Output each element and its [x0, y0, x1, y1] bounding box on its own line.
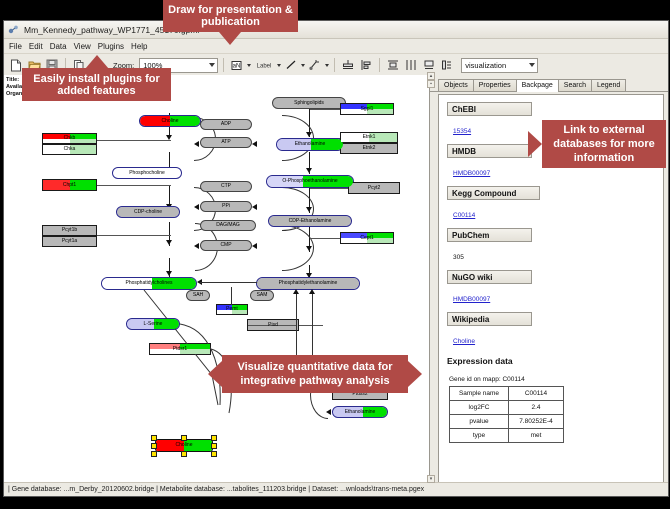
tab-backpage[interactable]: Backpage: [516, 79, 559, 92]
node-label: Phosphatidylcholines: [126, 281, 173, 286]
table-cell-value: 2.4: [509, 401, 564, 415]
node-ctp[interactable]: CTP: [200, 181, 252, 192]
db-label-pubchem: PubChem: [447, 228, 532, 242]
node-label: Sgpl1: [361, 107, 374, 112]
node-pcyt1a[interactable]: Pcyt1a: [42, 236, 97, 247]
callout-links-pointer: [528, 131, 542, 157]
node-label: CTP: [221, 184, 231, 189]
node-label: Pcyt2: [368, 186, 381, 191]
node-cept1[interactable]: Cept1: [340, 232, 394, 244]
sidebar-scroll-handle[interactable]: ▪: [427, 80, 435, 88]
node-label: ATP: [221, 140, 230, 145]
table-row: Sample name C00114: [450, 387, 564, 401]
node-label: Choline: [176, 443, 193, 448]
stack-icon[interactable]: [421, 57, 437, 73]
edge-line-dashed: [200, 282, 258, 283]
chevron-down-icon: [209, 63, 215, 67]
arrowhead-icon: [194, 204, 199, 210]
node-dag-mag[interactable]: DAG/MAG: [200, 220, 256, 231]
sidebar-scroll-down[interactable]: ▾: [427, 475, 435, 483]
expression-table: Sample name C00114 log2FC 2.4 pvalue 7.8…: [449, 386, 564, 443]
pathvisio-icon: [8, 24, 19, 35]
node-chkb[interactable]: Chkb: [42, 133, 97, 144]
node-cmp[interactable]: CMP: [200, 240, 252, 251]
label-dropdown[interactable]: [277, 64, 281, 67]
node-label: Chpt1: [63, 183, 76, 188]
node-pcyt1b[interactable]: Pcyt1b: [42, 225, 97, 236]
node-label: SAM: [257, 293, 268, 298]
selection-handle[interactable]: [211, 443, 217, 449]
selection-handle[interactable]: [151, 435, 157, 441]
db-value-pubchem: 305: [453, 254, 464, 261]
node-l-serine-left[interactable]: L-Serine: [126, 318, 180, 330]
node-sphingolipids[interactable]: Sphingolipids: [272, 97, 346, 109]
gene-connector: [97, 140, 171, 141]
table-cell-value: C00114: [509, 387, 564, 401]
node-cdp-choline[interactable]: CDP-choline: [116, 206, 180, 218]
node-ethanolamine[interactable]: Ethanolamine: [276, 138, 344, 151]
gene-connector: [310, 188, 348, 189]
selection-handle[interactable]: [151, 443, 157, 449]
table-cell-key: Sample name: [450, 387, 509, 401]
node-label: Pemt: [226, 307, 238, 312]
table-cell-value: 7.80252E-4: [509, 415, 564, 429]
gene-connector: [310, 109, 340, 110]
menu-file[interactable]: File: [9, 42, 22, 51]
chevron-down-icon: [529, 63, 535, 67]
node-label: PPi: [222, 204, 230, 209]
node-label: O-Phosphoethanolamine: [282, 179, 337, 184]
node-label: Pcyt1a: [62, 239, 77, 244]
node-label: Chkb: [64, 136, 76, 141]
node-sam[interactable]: SAM: [250, 290, 274, 301]
node-phosphatidylethanolamine[interactable]: Phosphatidylethanolamine: [256, 277, 360, 290]
node-label: Phosphocholine: [129, 171, 165, 176]
node-label: CDP-choline: [134, 210, 162, 215]
db-label-nugowiki: NuGO wiki: [447, 270, 532, 284]
node-label: Pisd: [268, 323, 278, 328]
menu-data[interactable]: Data: [50, 42, 67, 51]
node-label: Phosphatidylethanolamine: [279, 281, 338, 286]
tab-search[interactable]: Search: [558, 79, 592, 91]
table-row: type met: [450, 429, 564, 443]
table-cell-key: log2FC: [450, 401, 509, 415]
expression-data-heading: Expression data: [447, 356, 655, 366]
node-chpt1[interactable]: Chpt1: [42, 179, 97, 191]
arrowhead-icon: [194, 141, 199, 147]
toolbar-separator: [223, 58, 224, 72]
node-sgpl1[interactable]: Sgpl1: [340, 103, 394, 115]
node-ethanolamine-bottom[interactable]: Ethanolamine: [332, 406, 388, 418]
visualization-combo[interactable]: visualization: [461, 58, 538, 73]
canvas-info-organism: Organ: [6, 91, 22, 98]
callout-visualize-pointer-left: [208, 361, 222, 387]
toolbar-separator: [379, 58, 380, 72]
arrowhead-icon: [252, 141, 257, 147]
node-choline-top[interactable]: Choline: [139, 115, 201, 127]
db-link-wikipedia[interactable]: Choline: [453, 338, 475, 345]
datanode-dropdown[interactable]: [247, 64, 251, 67]
selection-handle[interactable]: [181, 451, 187, 457]
canvas-info-title: Title:: [6, 77, 19, 84]
distribute-horizontal-icon[interactable]: [403, 57, 419, 73]
arrowhead-icon: [166, 240, 172, 245]
arrowhead-icon: [309, 289, 315, 294]
arrowhead-icon: [326, 409, 331, 415]
node-label: ADP: [221, 122, 231, 127]
distribute-vertical-icon[interactable]: [385, 57, 401, 73]
edge-line: [231, 287, 232, 305]
callout-plugins-text: Easily install plugins for added feature…: [22, 73, 171, 97]
menu-bar[interactable]: File Edit Data View Plugins Help: [4, 39, 668, 54]
node-label: Ethanolamine: [295, 142, 326, 147]
callout-visualize-text: Visualize quantitative data for integrat…: [222, 360, 408, 388]
callout-draw-text: Draw for presentation & publication: [163, 4, 298, 28]
node-adp[interactable]: ADP: [200, 119, 252, 130]
tab-objects[interactable]: Objects: [438, 79, 474, 91]
status-text: | Gene database: ...m_Derby_20120602.bri…: [4, 486, 424, 493]
selection-handle[interactable]: [211, 451, 217, 457]
selection-handle[interactable]: [151, 451, 157, 457]
table-cell-key: type: [450, 429, 509, 443]
selection-handle[interactable]: [211, 435, 217, 441]
selection-handle[interactable]: [181, 435, 187, 441]
db-link-kegg[interactable]: C00114: [453, 212, 475, 219]
title-bar: Mm_Kennedy_pathway_WP1771_45176.gpml: [4, 21, 668, 39]
menu-edit[interactable]: Edit: [29, 42, 43, 51]
db-link-chebi[interactable]: 15354: [453, 128, 471, 135]
line-dropdown[interactable]: [301, 64, 305, 67]
callout-draw: Draw for presentation & publication: [163, 0, 298, 32]
status-bar: | Gene database: ...m_Derby_20120602.bri…: [4, 482, 668, 496]
label-icon[interactable]: Label: [253, 57, 275, 73]
table-cell-key: pvalue: [450, 415, 509, 429]
menu-view[interactable]: View: [74, 42, 91, 51]
svg-text:Label: Label: [257, 64, 272, 70]
callout-draw-pointer: [219, 32, 241, 45]
node-ptdsr1[interactable]: Ptdsr1: [149, 343, 211, 355]
table-row: pvalue 7.80252E-4: [450, 415, 564, 429]
tab-legend[interactable]: Legend: [591, 79, 626, 91]
node-pemt[interactable]: Pemt: [216, 304, 248, 315]
node-etnk2[interactable]: Etnk2: [340, 143, 398, 154]
callout-plugins-pointer: [85, 55, 109, 69]
node-label: DAG/MAG: [216, 223, 240, 228]
node-label: CDP-Ethanolamine: [289, 219, 332, 224]
toolbar-separator: [334, 58, 335, 72]
node-label: L-Serine: [144, 322, 163, 327]
table-cell-value: met: [509, 429, 564, 443]
pathway-editor-pane: Title: Availa Organ: [4, 75, 430, 496]
node-label: Ptdsr1: [173, 347, 187, 352]
datanode-icon[interactable]: aN: [229, 57, 245, 73]
pathway-canvas[interactable]: Title: Availa Organ: [4, 75, 429, 483]
node-label: Pcyt1b: [62, 228, 77, 233]
node-atp[interactable]: ATP: [200, 137, 252, 148]
anchor-dropdown[interactable]: [325, 64, 329, 67]
arrowhead-icon: [166, 271, 172, 276]
db-link-hmdb[interactable]: HMDB00097: [453, 170, 490, 177]
db-label-chebi: ChEBI: [447, 102, 532, 116]
callout-visualize-pointer-right: [408, 361, 422, 387]
gene-connector: [97, 185, 171, 186]
node-label: CMP: [220, 243, 231, 248]
callout-plugins: Easily install plugins for added feature…: [22, 68, 171, 101]
db-label-wikipedia: Wikipedia: [447, 312, 532, 326]
gene-connector: [97, 235, 171, 236]
node-etnk1[interactable]: Etnk1: [340, 132, 398, 143]
node-label: Cept1: [360, 236, 373, 241]
db-label-kegg: Kegg Compound: [447, 186, 540, 200]
db-link-nugowiki[interactable]: HMDB00097: [453, 296, 490, 303]
arrowhead-icon: [252, 243, 257, 249]
menu-plugins[interactable]: Plugins: [98, 42, 124, 51]
callout-links-text: Link to external databases for more info…: [542, 123, 666, 165]
node-ppi[interactable]: PPi: [200, 201, 252, 212]
sidebar-scroll-up[interactable]: ▴: [427, 72, 435, 80]
screenshot-root: Mm_Kennedy_pathway_WP1771_45176.gpml Fil…: [0, 0, 670, 509]
node-label: Etnk2: [363, 146, 376, 151]
align-center-icon[interactable]: [340, 57, 356, 73]
node-o-phosphoethanolamine[interactable]: O-Phosphoethanolamine: [266, 175, 354, 188]
node-label: SAH: [193, 293, 203, 298]
db-label-hmdb: HMDB: [447, 144, 532, 158]
node-sah[interactable]: SAH: [186, 290, 210, 301]
svg-text:aN: aN: [232, 63, 240, 69]
menu-help[interactable]: Help: [131, 42, 147, 51]
node-pcyt2[interactable]: Pcyt2: [348, 182, 400, 194]
table-row: log2FC 2.4: [450, 401, 564, 415]
line-icon[interactable]: [283, 57, 299, 73]
tab-properties[interactable]: Properties: [473, 79, 517, 91]
node-label: Ethanolamine: [345, 410, 376, 415]
callout-visualize: Visualize quantitative data for integrat…: [222, 355, 408, 393]
sidebar-tabs: Objects Properties Backpage Search Legen…: [430, 75, 668, 92]
canvas-info-avail: Availa: [6, 84, 22, 91]
node-phosphatidylcholines[interactable]: Phosphatidylcholines: [101, 277, 197, 290]
anchor-icon[interactable]: [307, 57, 323, 73]
node-cdp-ethanolamine[interactable]: CDP-Ethanolamine: [268, 215, 352, 227]
arrowhead-icon: [252, 204, 257, 210]
gene-id-on-mapp: Gene id on mapp: C00114: [449, 376, 655, 383]
node-chka[interactable]: Chka: [42, 144, 97, 155]
gene-connector: [299, 325, 323, 326]
arrowhead-icon: [194, 243, 199, 249]
align-left-icon[interactable]: [358, 57, 374, 73]
cofactor-curve: [250, 225, 314, 271]
node-label: Chka: [64, 147, 76, 152]
node-label: Etnk1: [363, 135, 376, 140]
arrowhead-icon: [306, 168, 312, 173]
node-label: Sphingolipids: [294, 101, 324, 106]
node-label: Choline: [162, 119, 179, 124]
arrowhead-icon: [293, 289, 299, 294]
visualization-value: visualization: [465, 61, 506, 70]
order-icon[interactable]: [439, 57, 455, 73]
callout-links: Link to external databases for more info…: [542, 120, 666, 168]
node-phosphocholine[interactable]: Phosphocholine: [112, 167, 182, 179]
